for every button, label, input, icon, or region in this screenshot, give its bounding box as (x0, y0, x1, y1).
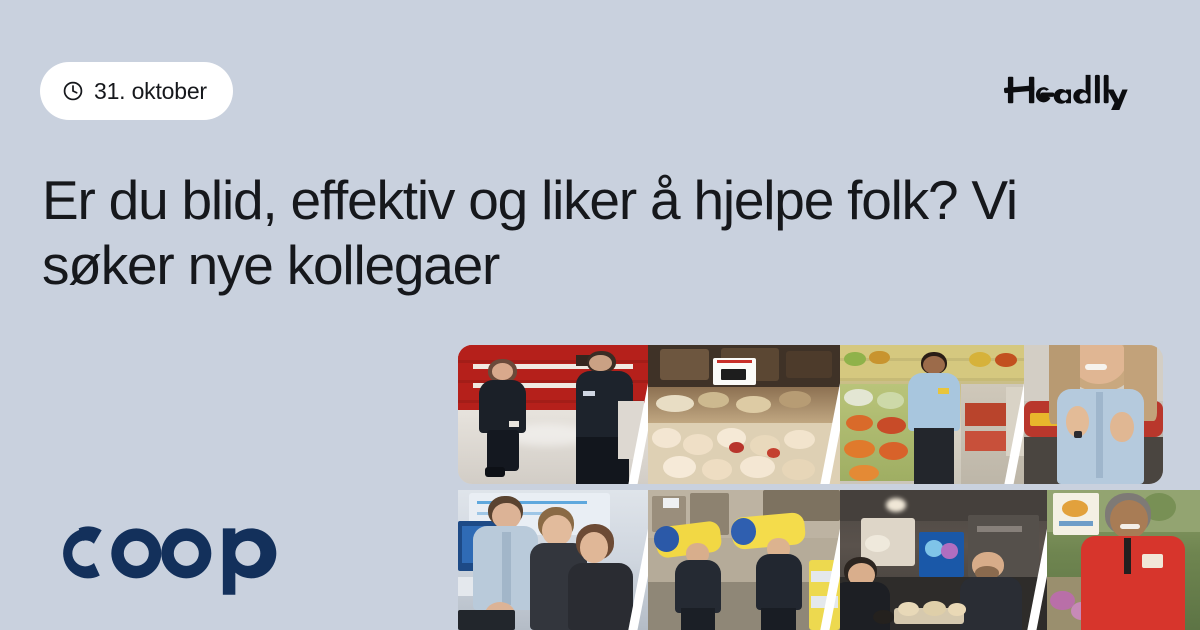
collage-photo-office-team-computers (458, 490, 648, 630)
clock-icon (62, 80, 84, 102)
coop-logo (44, 512, 294, 595)
collage-photo-smiling-man-red-polo (1047, 490, 1200, 630)
collage-photo-store-aisle-staff (458, 345, 648, 484)
date-badge: 31. oktober (40, 62, 233, 120)
collage-photo-produce-employee (840, 345, 1024, 484)
headly-logo[interactable] (1004, 66, 1160, 114)
image-collage (458, 345, 1200, 630)
collage-photo-bakery-counter (648, 345, 840, 484)
date-badge-label: 31. oktober (94, 78, 207, 105)
collage-row-top (458, 345, 1163, 484)
headly-wordmark (1004, 68, 1160, 112)
coop-wordmark (44, 512, 294, 595)
collage-photo-warehouse-workers (648, 490, 840, 630)
collage-photo-smiling-woman-denim (1024, 345, 1163, 484)
collage-row-bottom (458, 490, 1200, 630)
page-title: Er du blid, effektiv og liker å hjelpe f… (42, 168, 1042, 298)
collage-photo-cafe-service (840, 490, 1047, 630)
